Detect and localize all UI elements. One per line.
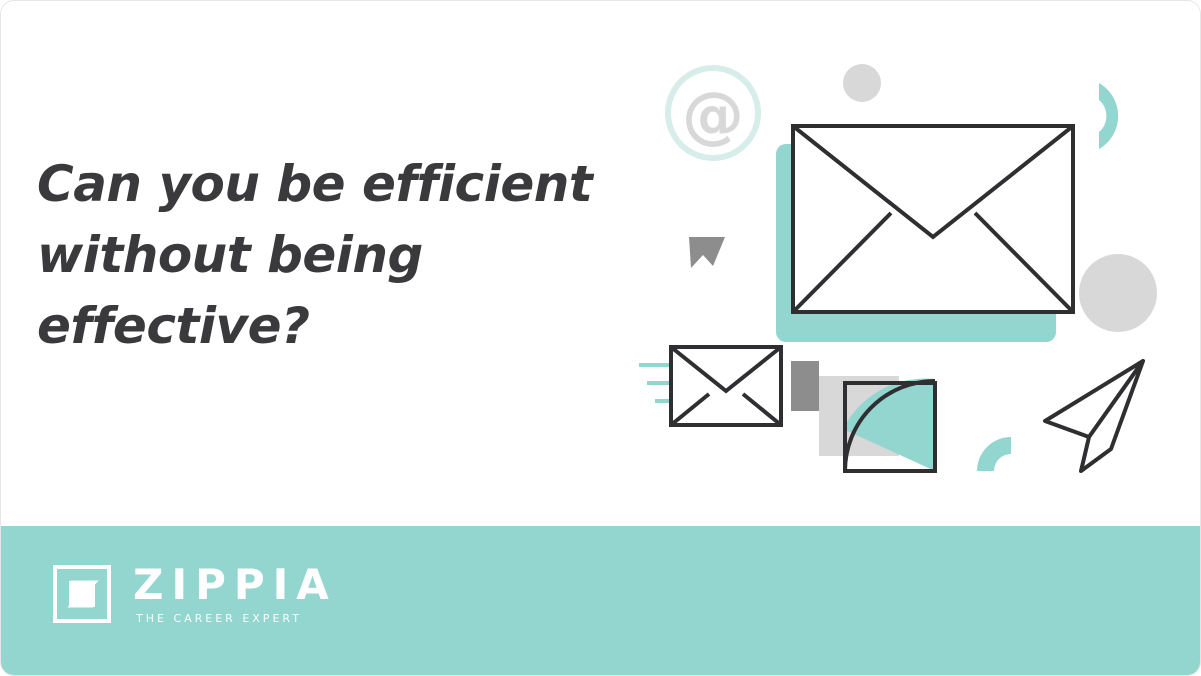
promo-card: Can you be efficient without being effec… xyxy=(0,0,1201,676)
email-illustration: @ xyxy=(621,31,1181,501)
paper-plane-icon xyxy=(1045,361,1143,471)
arrow-icon xyxy=(689,237,725,268)
zippia-tagline: THE CAREER EXPERT xyxy=(136,613,337,624)
square-icon xyxy=(791,361,819,411)
zippia-wordmark: ZIPPIA THE CAREER EXPERT xyxy=(133,564,337,624)
quarter-circle-icon xyxy=(1099,83,1118,149)
circle-icon xyxy=(843,64,881,102)
envelope-small-icon xyxy=(639,347,781,425)
zippia-z-mark xyxy=(53,565,111,623)
svg-text:@: @ xyxy=(682,78,744,151)
zippia-name: ZIPPIA xyxy=(133,564,337,606)
page-title: Can you be efficient without being effec… xyxy=(37,149,597,362)
zippia-logo[interactable]: ZIPPIA THE CAREER EXPERT xyxy=(53,564,337,624)
at-symbol-icon: @ xyxy=(668,68,758,158)
quarter-circle-icon xyxy=(977,437,1011,471)
footer-bar: ZIPPIA THE CAREER EXPERT xyxy=(1,526,1200,675)
circle-icon xyxy=(1079,254,1157,332)
